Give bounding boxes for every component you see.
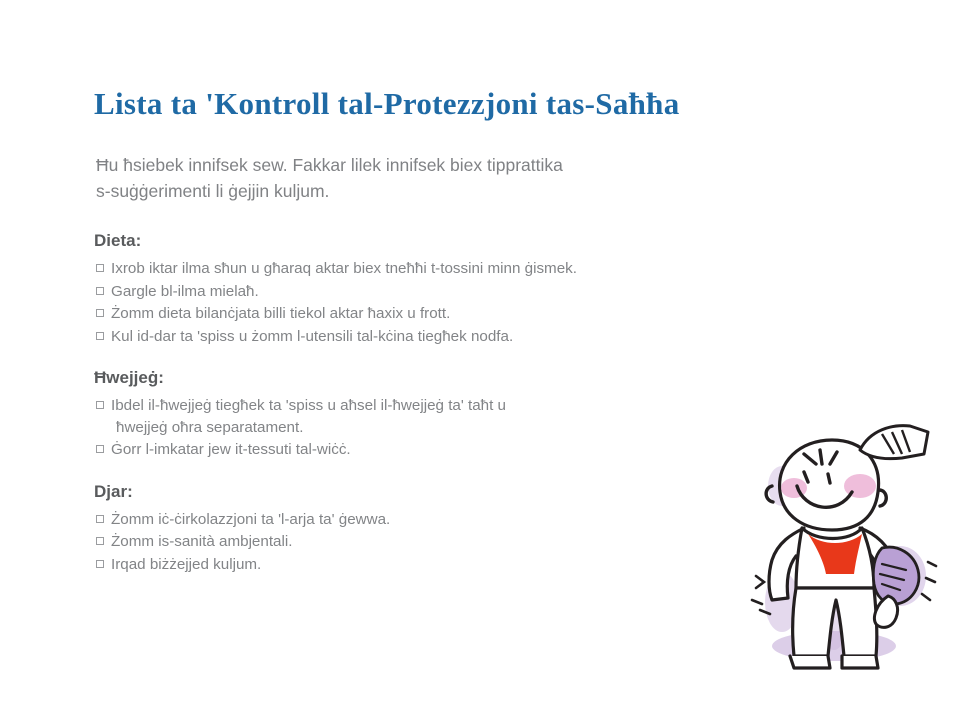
checklist-item-text: Żomm is-sanità ambjentali. — [111, 531, 814, 553]
hair-tuft-2 — [820, 450, 822, 464]
checklist-item[interactable]: Gargle bl-ilma mielaħ. — [94, 281, 814, 303]
checklist-item-line: Kul id-dar ta 'spiss u żomm l-utensili t… — [111, 326, 814, 348]
motion-left-1 — [756, 576, 764, 588]
checklist-item-text: Gargle bl-ilma mielaħ. — [111, 281, 814, 303]
checkbox-square-icon[interactable] — [96, 445, 104, 453]
checkbox-square-icon[interactable] — [96, 287, 104, 295]
checklist-item-line: Ibdel il-ħwejjeġ tiegħek ta 'spiss u aħs… — [111, 395, 814, 417]
section-heading: Djar: — [94, 481, 814, 503]
checkbox-square-icon[interactable] — [96, 332, 104, 340]
motion-left-2 — [752, 600, 762, 604]
checkbox-square-icon[interactable] — [96, 515, 104, 523]
checkbox-square-icon[interactable] — [96, 401, 104, 409]
checklist-item-line: Żomm iċ-ċirkolazzjoni ta 'l-arja ta' ġew… — [111, 509, 814, 531]
checkbox-square-icon[interactable] — [96, 309, 104, 317]
checklist-item-line: Irqad biżżejjed kuljum. — [111, 554, 814, 576]
intro-line-1: Ħu ħsiebek innifsek sew. Fakkar lilek in… — [96, 152, 796, 178]
intro-line-2: s-suġġerimenti li ġejjin kuljum. — [96, 178, 796, 204]
section-dieta: Dieta: Ixrob iktar ilma sħun u għaraq ak… — [94, 230, 814, 347]
checklist-item[interactable]: Żomm iċ-ċirkolazzjoni ta 'l-arja ta' ġew… — [94, 509, 814, 531]
slide-canvas: Lista ta 'Kontroll tal-Protezzjoni tas-S… — [0, 0, 960, 720]
checkbox-square-icon[interactable] — [96, 560, 104, 568]
checklist-item-line: Ixrob iktar ilma sħun u għaraq aktar bie… — [111, 258, 814, 280]
ponytail-group — [860, 426, 928, 459]
cartoon-child-illustration — [742, 424, 960, 674]
section-heading: Ħwejjeġ: — [94, 367, 814, 389]
checklist-item[interactable]: Żomm dieta bilanċjata billi tiekol aktar… — [94, 303, 814, 325]
page-title: Lista ta 'Kontroll tal-Protezzjoni tas-S… — [94, 86, 680, 122]
checklist-item-text: Kul id-dar ta 'spiss u żomm l-utensili t… — [111, 326, 814, 348]
checklist-item-line: Żomm dieta bilanċjata billi tiekol aktar… — [111, 303, 814, 325]
section-heading: Dieta: — [94, 230, 814, 252]
eye-right — [828, 474, 830, 483]
checklist-item-text: Irqad biżżejjed kuljum. — [111, 554, 814, 576]
checklist-djar: Żomm iċ-ċirkolazzjoni ta 'l-arja ta' ġew… — [94, 509, 814, 576]
section-hwejjeg: Ħwejjeġ: Ibdel il-ħwejjeġ tiegħek ta 'sp… — [94, 367, 814, 461]
checklist-dieta: Ixrob iktar ilma sħun u għaraq aktar bie… — [94, 258, 814, 347]
checklist-item-text: Ġorr l-imkatar jew it-tessuti tal-wiċċ. — [111, 439, 814, 461]
checklist-item-line: Ġorr l-imkatar jew it-tessuti tal-wiċċ. — [111, 439, 814, 461]
foot-left — [790, 656, 830, 668]
checklist-item-text: Ibdel il-ħwejjeġ tiegħek ta 'spiss u aħs… — [111, 395, 814, 438]
checklist-item-line: ħwejjeġ oħra separatament. — [111, 417, 814, 439]
cartoon-child-svg — [742, 424, 960, 674]
checklist-item-text: Ixrob iktar ilma sħun u għaraq aktar bie… — [111, 258, 814, 280]
checklist-item[interactable]: Ixrob iktar ilma sħun u għaraq aktar bie… — [94, 258, 814, 280]
motion-right-3 — [922, 594, 930, 600]
right-hand — [875, 596, 898, 627]
checklist-item[interactable]: Ibdel il-ħwejjeġ tiegħek ta 'spiss u aħs… — [94, 395, 814, 438]
intro-paragraph: Ħu ħsiebek innifsek sew. Fakkar lilek in… — [96, 152, 796, 204]
checklist-hwejjeg: Ibdel il-ħwejjeġ tiegħek ta 'spiss u aħs… — [94, 395, 814, 461]
hands-group — [875, 596, 898, 627]
checkbox-square-icon[interactable] — [96, 264, 104, 272]
foot-right — [842, 656, 878, 668]
checklist-item[interactable]: Irqad biżżejjed kuljum. — [94, 554, 814, 576]
checklist-item-text: Żomm iċ-ċirkolazzjoni ta 'l-arja ta' ġew… — [111, 509, 814, 531]
checklist-item-text: Żomm dieta bilanċjata billi tiekol aktar… — [111, 303, 814, 325]
motion-right-2 — [926, 578, 935, 582]
checklist-content: Dieta: Ixrob iktar ilma sħun u għaraq ak… — [94, 230, 814, 576]
checklist-item-line: Gargle bl-ilma mielaħ. — [111, 281, 814, 303]
checklist-item[interactable]: Ġorr l-imkatar jew it-tessuti tal-wiċċ. — [94, 439, 814, 461]
checklist-item[interactable]: Kul id-dar ta 'spiss u żomm l-utensili t… — [94, 326, 814, 348]
motion-right-1 — [928, 562, 936, 566]
section-djar: Djar: Żomm iċ-ċirkolazzjoni ta 'l-arja t… — [94, 481, 814, 576]
ear-right — [879, 490, 886, 506]
checklist-item[interactable]: Żomm is-sanità ambjentali. — [94, 531, 814, 553]
checkbox-square-icon[interactable] — [96, 537, 104, 545]
checklist-item-line: Żomm is-sanità ambjentali. — [111, 531, 814, 553]
